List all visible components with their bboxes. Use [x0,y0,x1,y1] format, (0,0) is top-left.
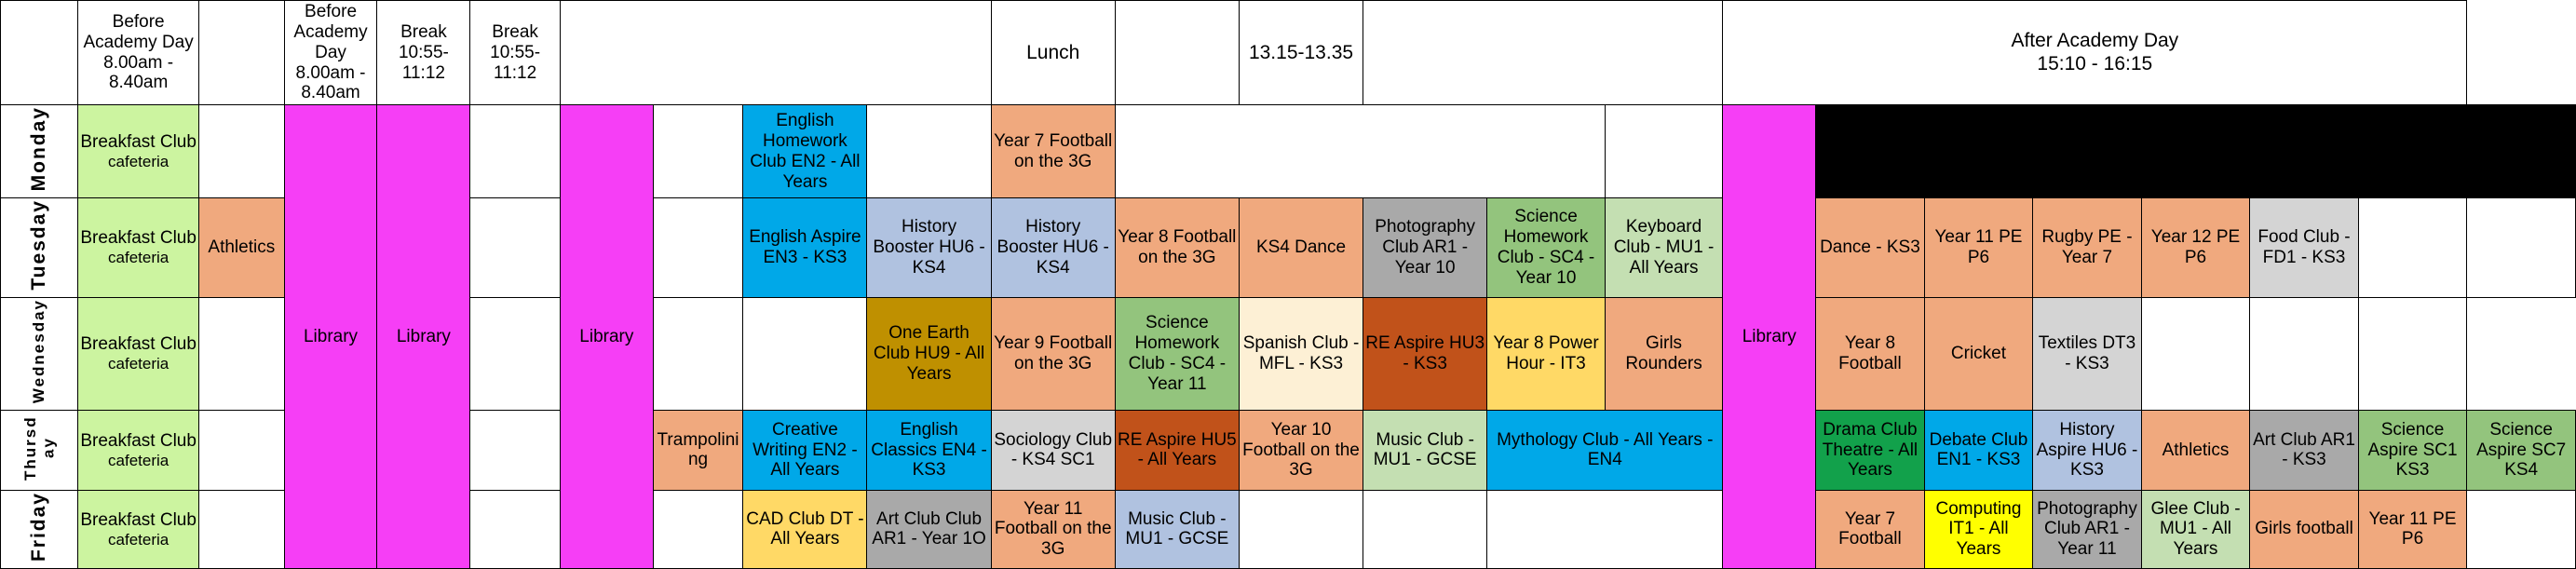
cell-tuesday-l11[interactable]: Year 8 Football on the 3G [1115,198,1239,298]
cell-tuesday-a3[interactable]: Rugby PE - Year 7 [2033,198,2142,298]
cell-monday-l7[interactable] [653,105,743,198]
cell-wednesday-l14[interactable]: Year 8 Power Hour - IT3 [1487,297,1606,410]
break-1-time: 10:55-11:12 [379,43,468,84]
cell-thursday-a7[interactable]: Science Aspire SC7 KS4 [2467,410,2576,490]
cell-wednesday-a4[interactable]: Textiles DT3 - KS3 [2033,297,2142,410]
cell-wednesday-a6[interactable] [2250,297,2359,410]
cell-tuesday-l9[interactable]: History Booster HU6 - KS4 [867,198,991,298]
cell-wednesday-l10[interactable]: Year 9 Football on the 3G [991,297,1115,410]
library-label: Library [304,327,358,346]
cell-thursday-l12[interactable]: Year 10 Football on the 3G [1239,410,1363,490]
cell-wednesday-l9[interactable]: One Earth Club HU9 - All Years [867,297,991,410]
cell-wednesday-a1[interactable]: Girls Rounders [1605,297,1723,410]
breakfast-title: Breakfast Club [80,228,197,249]
cell-thursday-a3[interactable]: History Aspire HU6 - KS3 [2033,410,2142,490]
cell-tuesday-l13[interactable]: Photography Club AR1 - Year 10 [1363,198,1487,298]
break-2-label: Break [472,22,558,43]
cell-tuesday-a2[interactable]: Year 11 PE P6 [1924,198,2033,298]
cell-thursday-a6[interactable]: Science Aspire SC1 KS3 [2358,410,2467,490]
cell-monday-breakfast[interactable]: Breakfast Club cafeteria [78,105,199,198]
cell-wednesday-l8[interactable] [743,297,867,410]
header-lunch-label-cell: Lunch [991,1,1115,105]
breakfast-title: Breakfast Club [80,510,197,531]
header-lunch-pad-right [1363,1,1723,105]
cell-wednesday-l11[interactable]: Science Homework Club - SC4 - Year 11 [1115,297,1239,410]
cell-thursday-l7[interactable]: Trampolining [653,410,743,490]
cell-friday-a1[interactable]: Year 7 Football [1816,490,1925,568]
day-text: Friday [28,492,50,562]
day-text: Thursday [21,415,58,481]
cell-tuesday-l8[interactable]: English Aspire EN3 - KS3 [743,198,867,298]
cell-wednesday-a5[interactable] [2141,297,2250,410]
cell-tuesday-break[interactable] [470,198,561,298]
lunch-label: Lunch [1026,42,1079,63]
cell-thursday-a1[interactable]: Drama Club Theatre - All Years [1816,410,1925,490]
cell-tuesday-l10[interactable]: History Booster HU6 - KS4 [991,198,1115,298]
cell-monday-break[interactable] [470,105,561,198]
cell-tuesday-a5[interactable]: Food Club - FD1 - KS3 [2250,198,2359,298]
breakfast-location: cafeteria [80,153,197,171]
header-break-2: Break 10:55-11:12 [470,1,561,105]
day-text: Tuesday [28,199,50,291]
header-row: Before Academy Day 8.00am - 8.40am Befor… [1,1,2576,105]
cell-tuesday-breakfast[interactable]: Breakfast Club cafeteria [78,198,199,298]
breakfast-location: cafeteria [80,452,197,470]
cell-thursday-breakfast[interactable]: Breakfast Club cafeteria [78,410,199,490]
cell-thursday-a2[interactable]: Debate Club EN1 - KS3 [1924,410,2033,490]
cell-tuesday-a6[interactable] [2358,198,2467,298]
break-2-time: 10:55-11:12 [472,43,558,84]
day-label-monday: Monday [1,105,78,198]
timetable-sheet: Before Academy Day 8.00am - 8.40am Befor… [0,0,2576,499]
cell-wednesday-l7[interactable] [653,297,743,410]
breakfast-location: cafeteria [80,531,197,549]
row-monday: Monday Breakfast Club cafeteria Library … [1,105,2576,198]
cell-tuesday-l15[interactable]: Keyboard Club - MU1 - All Years [1605,198,1723,298]
day-label-tuesday: Tuesday [1,198,78,298]
header-corner-blank [1,1,78,105]
cell-wednesday-l13[interactable]: RE Aspire HU3 - KS3 [1363,297,1487,410]
cell-friday-l8[interactable]: CAD Club DT - All Years [743,490,867,568]
cell-tuesday-l7[interactable] [653,198,743,298]
header-before-academy-2: Before Academy Day 8.00am - 8.40am [284,1,377,105]
library-label: Library [579,327,633,346]
cell-friday-a6[interactable]: Year 11 PE P6 [2358,490,2467,568]
break-1-label: Break [379,22,468,43]
cell-friday-l12[interactable] [1239,490,1363,568]
day-text: Monday [28,106,50,191]
cell-wednesday-l12[interactable]: Spanish Club - MFL - KS3 [1239,297,1363,410]
cell-friday-l9[interactable]: Art Club Club AR1 - Year 1O [867,490,991,568]
cell-thursday-l13[interactable]: Music Club - MU1 - GCSE [1363,410,1487,490]
cell-monday-l15[interactable] [1605,105,1723,198]
cell-monday-l10[interactable]: Year 7 Football on the 3G [991,105,1115,198]
cell-tuesday-a4[interactable]: Year 12 PE P6 [2141,198,2250,298]
cell-wednesday-a2[interactable]: Year 8 Football [1816,297,1925,410]
breakfast-title: Breakfast Club [80,334,197,355]
cell-thursday-l10[interactable]: Sociology Club - KS4 SC1 [991,410,1115,490]
cell-thursday-break[interactable] [470,410,561,490]
cell-thursday-l8[interactable]: Creative Writing EN2 - All Years [743,410,867,490]
cell-friday-l14[interactable] [1487,490,1723,568]
cell-monday-l9[interactable] [867,105,991,198]
cell-thursday-l9[interactable]: English Classics EN4 - KS3 [867,410,991,490]
cell-tuesday-l12[interactable]: KS4 Dance [1239,198,1363,298]
cell-friday-breakfast[interactable]: Breakfast Club cafeteria [78,490,199,568]
header-break-1: Break 10:55-11:12 [377,1,470,105]
cell-thursday-l14[interactable]: Mythology Club - All Years - EN4 [1487,410,1723,490]
header-lunch-pad-left [560,1,991,105]
cell-friday-l7[interactable] [653,490,743,568]
lunch-time: 13.15-13.35 [1249,42,1353,63]
cell-friday-l10[interactable]: Year 11 Football on the 3G [991,490,1115,568]
breakfast-location: cafeteria [80,249,197,267]
header-blank-2 [199,1,285,105]
cell-tuesday-l14[interactable]: Science Homework Club - SC4 - Year 10 [1487,198,1606,298]
library-label: Library [397,327,451,346]
cell-friday-break[interactable] [470,490,561,568]
cell-wednesday-breakfast[interactable]: Breakfast Club cafeteria [78,297,199,410]
header-after-academy: After Academy Day 15:10 - 16:15 [1723,1,2467,105]
cell-friday-a5[interactable]: Girls football [2250,490,2359,568]
cell-wednesday-a3[interactable]: Cricket [1924,297,2033,410]
cell-monday-b2[interactable] [199,105,285,198]
day-label-friday: Friday [1,490,78,568]
after-academy-time: 15:10 - 16:15 [1725,53,2464,75]
library-label: Library [1742,327,1796,346]
day-label-wednesday: Wednesday [1,297,78,410]
cell-tuesday-athletics[interactable]: Athletics [199,198,285,298]
cell-friday-a7[interactable] [2467,490,2576,568]
cell-thursday-a5[interactable]: Art Club AR1 - KS3 [2250,410,2359,490]
cell-wednesday-b2[interactable] [199,297,285,410]
cell-friday-a3[interactable]: Photography Club AR1 - Year 11 [2033,490,2142,568]
cell-friday-a4[interactable]: Glee Club - MU1 - All Years [2141,490,2250,568]
cell-friday-b2[interactable] [199,490,285,568]
day-text: Wednesday [30,299,48,403]
header-lunch-pad-mid [1115,1,1239,105]
cell-friday-l11[interactable]: Music Club - MU1 - GCSE [1115,490,1239,568]
day-label-thursday: Thursday [1,410,78,490]
breakfast-location: cafeteria [80,355,197,373]
after-academy-label: After Academy Day [1725,30,2464,52]
cell-monday-l8[interactable]: English Homework Club EN2 - All Years [743,105,867,198]
cell-wednesday-break[interactable] [470,297,561,410]
breakfast-title: Breakfast Club [80,132,197,153]
cell-tuesday-a7[interactable] [2467,198,2576,298]
cell-friday-a2[interactable]: Computing IT1 - All Years [1924,490,2033,568]
cell-tuesday-a1[interactable]: Dance - KS3 [1816,198,1925,298]
header-before-academy-1: Before Academy Day 8.00am - 8.40am [78,1,199,105]
cell-thursday-a4[interactable]: Athletics [2141,410,2250,490]
enrichment-timetable: Before Academy Day 8.00am - 8.40am Befor… [0,0,2576,569]
header-lunch-time-cell: 13.15-13.35 [1239,1,1363,105]
cell-thursday-l11[interactable]: RE Aspire HU5 - All Years [1115,410,1239,490]
breakfast-title: Breakfast Club [80,431,197,452]
cell-monday-after-black[interactable] [1816,105,2576,198]
cell-monday-l11[interactable] [1115,105,1605,198]
cell-thursday-b2[interactable] [199,410,285,490]
cell-friday-l13[interactable] [1363,490,1487,568]
cell-wednesday-a7[interactable] [2358,297,2467,410]
